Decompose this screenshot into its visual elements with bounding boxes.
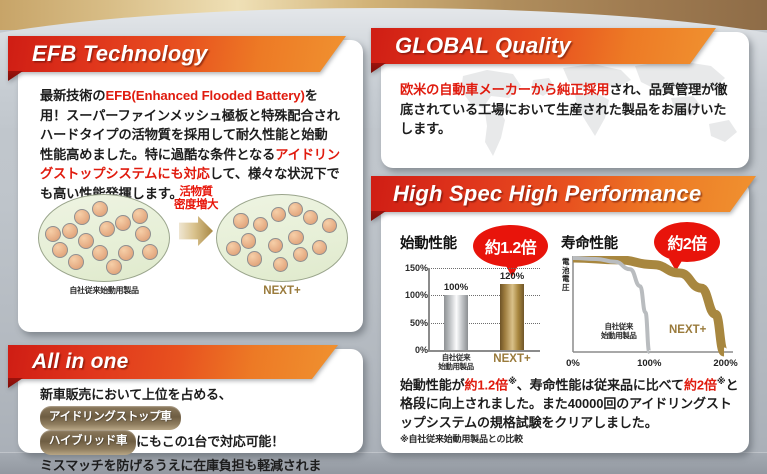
panel-title-text: All in one — [8, 350, 129, 374]
active-material-dot — [233, 213, 248, 228]
curve-label: NEXT+ — [669, 326, 706, 335]
text-segment-0: 最新技術の — [40, 88, 105, 103]
active-material-dot — [253, 217, 268, 232]
density-label-line2: 密度増大 — [174, 199, 218, 211]
active-material-dot — [52, 242, 68, 258]
plate-old-caption: 自社従来始動用製品 — [38, 285, 170, 296]
x-axis-tick-label: 0% — [566, 358, 580, 369]
active-material-dot — [247, 251, 262, 266]
y-axis-tick-label: 50% — [410, 318, 428, 328]
text-segment-4: にもこの1台で対応可能！ — [136, 434, 284, 449]
panel-title-high-spec: High Spec High Performance — [371, 176, 756, 212]
panel-title-efb-technology: EFB Technology — [8, 36, 346, 72]
bar-value-label: 120% — [500, 271, 524, 282]
bar-chart-start-performance: 0%50%100%150%100%自社従来始動用製品120%NEXT+ — [398, 256, 548, 376]
x-axis-line — [428, 350, 540, 352]
chart-heading-life-performance: 寿命性能 — [561, 232, 618, 253]
active-material-dot — [226, 241, 241, 256]
text-segment-3: 、寿命性能は従来品に比べて — [517, 377, 684, 392]
density-increase-callout: 活物質 密度増大 — [173, 186, 219, 246]
text-segment-1: EFB(Enhanced Flooded Battery) — [105, 88, 304, 103]
infographic-stage: EFB Technology 最新技術のEFB(Enhanced Flooded… — [0, 0, 767, 474]
high-spec-footnote: ※自社従来始動用製品との比較 — [400, 432, 740, 445]
plate-old-ellipse — [38, 194, 170, 282]
text-segment-0: 新車販売において上位を占める、 — [40, 387, 232, 402]
active-material-dot — [92, 245, 108, 261]
bar-nextplus: 120%NEXT+ — [500, 284, 524, 350]
text-segment-6: ミスマッチを防げるうえに在庫負担も軽減されます。 — [40, 458, 321, 474]
y-axis-line — [428, 268, 430, 350]
plate-conventional: 自社従来始動用製品 — [38, 194, 170, 296]
active-material-dot — [312, 240, 327, 255]
text-segment-0: 欧米の自動車メーカーから純正採用 — [400, 82, 609, 97]
global-quality-body-text: 欧米の自動車メーカーから純正採用され、品質管理が徹底されている工場において生産さ… — [400, 80, 734, 139]
y-axis-tick-label: 0% — [415, 345, 428, 355]
active-material-dot — [293, 247, 308, 262]
bar-category-label: NEXT+ — [493, 353, 530, 365]
density-label-line1: 活物質 — [180, 186, 213, 198]
high-spec-caption: 始動性能が約1.2倍※、寿命性能は従来品に比べて約2倍※と格段に向上されました。… — [400, 372, 740, 432]
active-material-dot — [78, 233, 94, 249]
text-segment-2: ※ — [508, 376, 517, 386]
plate-new-caption: NEXT+ — [216, 285, 348, 297]
active-material-dot — [99, 221, 115, 237]
plate-new-ellipse — [216, 194, 348, 282]
active-material-dot — [288, 230, 303, 245]
vehicle-type-pill: アイドリングストップ車 — [40, 406, 181, 431]
active-material-dot — [273, 257, 288, 272]
active-material-dot — [68, 254, 84, 270]
active-material-dot — [118, 245, 134, 261]
active-material-dot — [241, 233, 256, 248]
vehicle-type-pill: ハイブリッド車 — [40, 430, 136, 455]
text-segment-5: ※ — [717, 376, 726, 386]
text-segment-0: 始動性能が — [400, 377, 465, 392]
active-material-dot — [92, 201, 108, 217]
panel-title-global-quality: GLOBAL Quality — [371, 28, 716, 64]
bar-category-label: 自社従来始動用製品 — [438, 353, 474, 371]
gridline — [428, 268, 540, 269]
active-material-dot — [132, 208, 148, 224]
active-material-dot — [288, 202, 303, 217]
active-material-dot — [74, 209, 90, 225]
y-axis-tick-label: 150% — [405, 263, 428, 273]
text-segment-4: 約2倍 — [684, 377, 717, 392]
active-material-dot — [62, 223, 78, 239]
bar-conventional: 100%自社従来始動用製品 — [444, 295, 468, 350]
curve-label: 自社従来始動用製品 — [601, 322, 637, 340]
panel-title-all-in-one: All in one — [8, 345, 338, 379]
x-axis-tick-label: 200% — [713, 358, 737, 369]
bar-value-label: 100% — [444, 282, 468, 293]
active-material-dot — [135, 226, 151, 242]
x-axis-tick-label: 100% — [637, 358, 661, 369]
active-material-dot — [271, 207, 286, 222]
active-material-dot — [268, 238, 283, 253]
all-in-one-body-text: 新車販売において上位を占める、アイドリングストップ車ハイブリッド車にもこの1台で… — [40, 384, 345, 474]
plate-density-diagram: 自社従来始動用製品 活物質 密度増大 NEXT+ — [30, 190, 355, 325]
arrow-right-icon — [179, 216, 213, 246]
active-material-dot — [45, 226, 61, 242]
active-material-dot — [142, 244, 158, 260]
text-segment-1: 約1.2倍 — [465, 377, 509, 392]
panel-title-text: EFB Technology — [8, 41, 208, 67]
panel-title-text: GLOBAL Quality — [371, 33, 571, 59]
chart-heading-start-performance: 始動性能 — [400, 232, 457, 253]
active-material-dot — [322, 218, 337, 233]
active-material-dot — [115, 215, 131, 231]
plate-nextplus: NEXT+ — [216, 194, 348, 297]
y-axis-tick-label: 100% — [405, 290, 428, 300]
active-material-dot — [106, 259, 122, 275]
panel-title-text: High Spec High Performance — [371, 181, 701, 207]
active-material-dot — [303, 210, 318, 225]
line-chart-life-performance: 電池電圧 0%100%200%自社従来始動用製品NEXT+ — [561, 256, 743, 376]
